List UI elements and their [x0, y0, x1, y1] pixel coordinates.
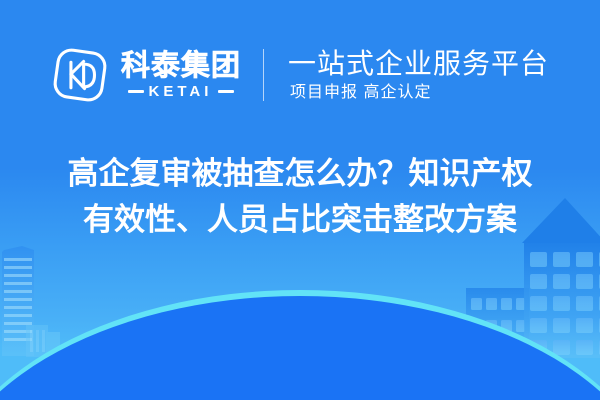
- wordmark: 科泰集团 KETAI: [121, 52, 241, 99]
- brand-lockup[interactable]: 科泰集团 KETAI: [51, 46, 263, 104]
- ketai-kd-monogram-logo: [51, 46, 109, 104]
- headline-block: 高企复审被抽查怎么办？知识产权 有效性、人员占比突击整改方案: [0, 152, 600, 242]
- promo-banner: 科泰集团 KETAI 一站式企业服务平台 项目申报 高企认定 高企复审被抽查怎么…: [0, 0, 600, 400]
- tagline-secondary: 项目申报 高企认定: [288, 85, 431, 101]
- banner-header: 科泰集团 KETAI 一站式企业服务平台 项目申报 高企认定: [0, 0, 600, 150]
- wordmark-dash-left: [128, 90, 144, 93]
- left-skyscraper: [2, 246, 34, 356]
- company-name-en: KETAI: [149, 84, 213, 99]
- tagline-primary: 一站式企业服务平台: [288, 50, 549, 78]
- wordmark-dash-right: [218, 90, 234, 93]
- company-name-en-row: KETAI: [128, 84, 235, 99]
- tagline-block: 一站式企业服务平台 项目申报 高企认定: [264, 50, 549, 101]
- headline-line-2: 有效性、人员占比突击整改方案: [83, 198, 517, 242]
- bottom-curve: [0, 296, 600, 400]
- company-name-cn: 科泰集团: [121, 52, 241, 81]
- headline-line-1: 高企复审被抽查怎么办？知识产权: [68, 152, 533, 196]
